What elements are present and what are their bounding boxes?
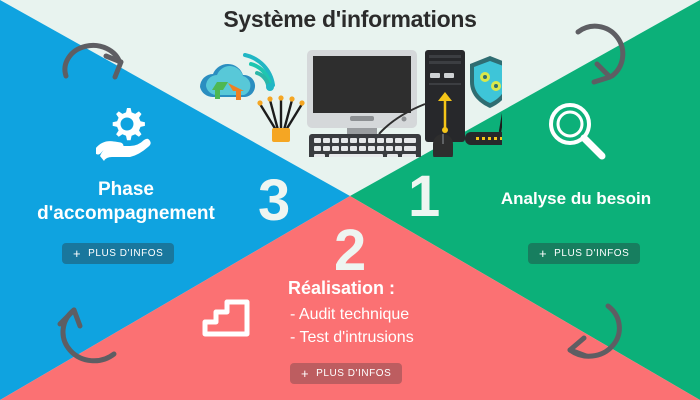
step-1-title: Analyse du besoin [460,188,692,210]
list-item: - Test d'intrusions [290,326,414,349]
step-3-title-line2: d'accompagnement [10,202,242,226]
information-system-illustration [182,42,502,157]
more-info-button-analyse[interactable]: + PLUS D'INFOS [528,243,640,264]
cloud-sync-icon [200,64,255,100]
step-3-title: Phase d'accompagnement [10,178,242,227]
more-info-label: PLUS D'INFOS [88,248,163,259]
step-3-title-line1: Phase [10,178,242,202]
step-2-items: - Audit technique - Test d'intrusions [290,303,414,349]
more-info-label: PLUS D'INFOS [316,368,391,379]
arrow-top-left [58,22,134,80]
more-info-button-accompagnement[interactable]: + PLUS D'INFOS [62,243,174,264]
keyboard-icon [309,134,421,157]
more-info-button-realisation[interactable]: + PLUS D'INFOS [290,363,402,384]
magnifier-icon [546,100,608,162]
gear-in-hand-icon [96,104,158,162]
list-item: - Audit technique [290,303,414,326]
pc-tower-icon [425,50,465,142]
arrow-bottom-left [50,302,122,364]
step-number-3: 3 [258,172,289,230]
arrow-top-right [572,22,638,88]
mouse-icon [433,134,453,157]
plus-icon: + [301,367,309,380]
desktop-monitor-icon [307,50,417,146]
plus-icon: + [539,247,547,260]
security-shield-icon [470,56,502,108]
arrow-bottom-right [556,300,632,362]
step-number-1: 1 [408,168,439,226]
stairs-icon [202,292,254,340]
plus-icon: + [73,247,81,260]
step-2-title: Réalisation : [288,277,395,300]
step-number-2: 2 [334,222,365,280]
cable-bundle-icon [257,95,304,142]
router-icon [465,108,502,145]
infographic-canvas: Système d'informations [0,0,700,400]
more-info-label: PLUS D'INFOS [554,248,629,259]
